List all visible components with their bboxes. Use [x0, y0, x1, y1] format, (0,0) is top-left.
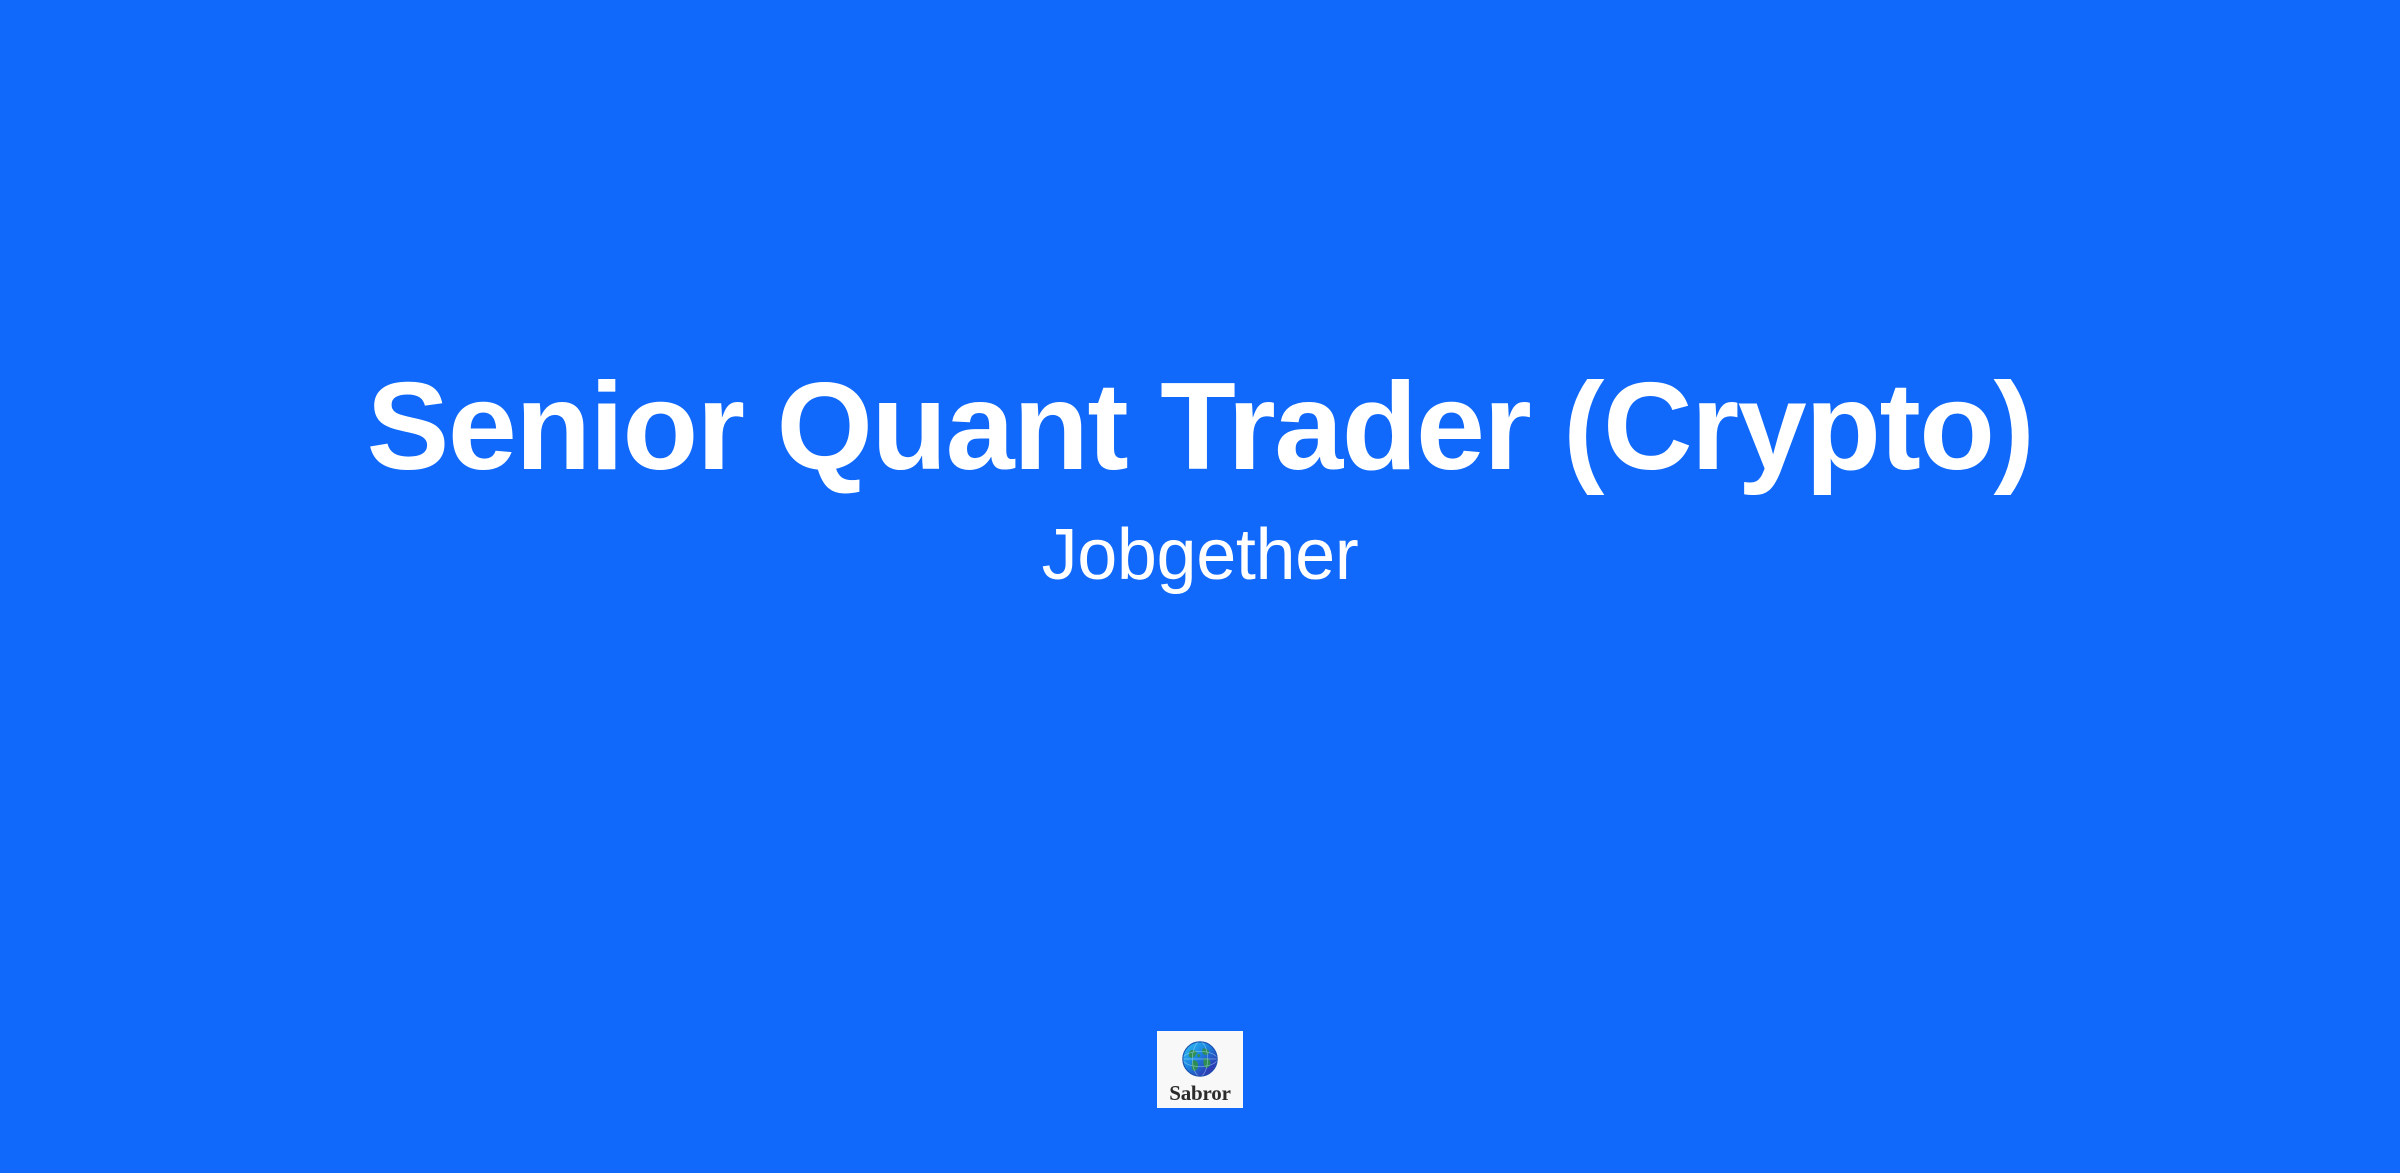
page-title: Senior Quant Trader (Crypto): [367, 363, 2034, 492]
brand-logo-card: Sabror: [1157, 1031, 1243, 1108]
company-name: Jobgether: [1042, 514, 1359, 597]
job-posting-slide: Senior Quant Trader (Crypto) Jobgether: [0, 0, 2400, 1173]
hero-section: Senior Quant Trader (Crypto) Jobgether: [0, 0, 2400, 960]
globe-icon: [1178, 1037, 1222, 1081]
brand-wordmark: Sabror: [1169, 1083, 1230, 1104]
brand-footer: Sabror: [0, 1031, 2400, 1108]
